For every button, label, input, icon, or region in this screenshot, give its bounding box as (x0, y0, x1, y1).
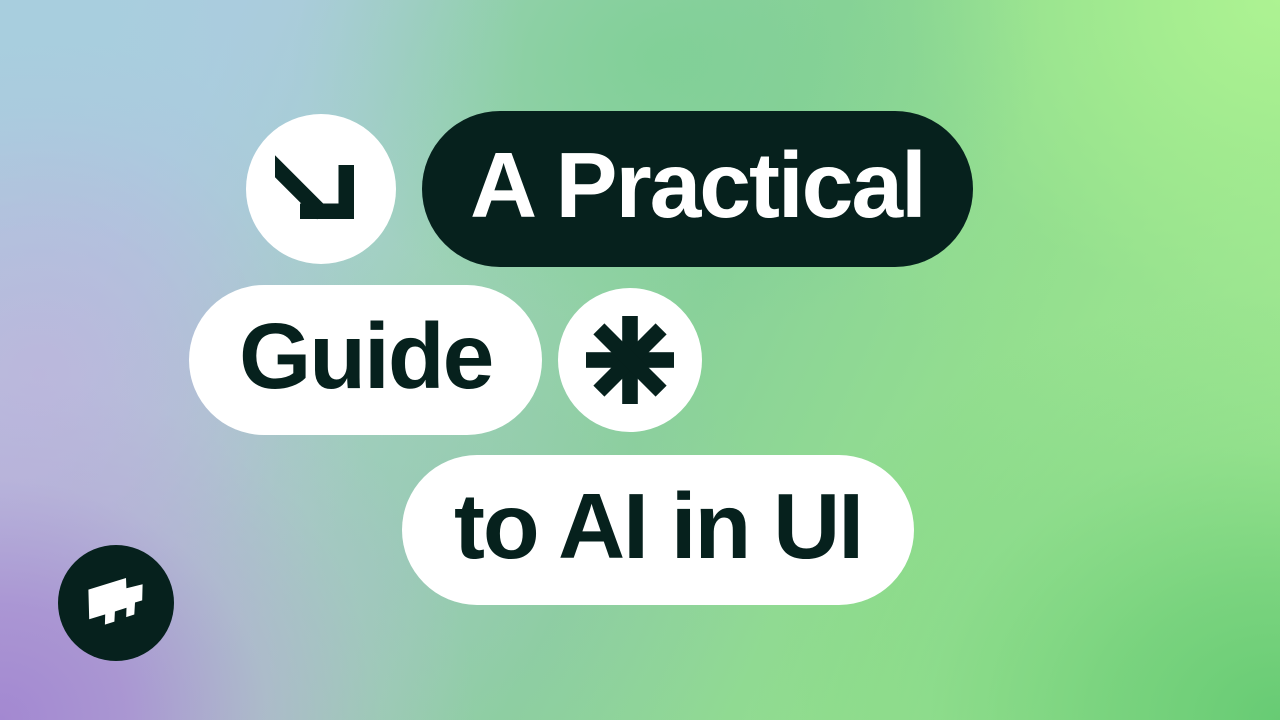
logo-badge[interactable] (58, 545, 174, 661)
headline-row-1: A Practical (246, 111, 973, 267)
headline-pill-to-ai-in-ui: to AI in UI (402, 455, 914, 605)
headline-pill-guide: Guide (189, 285, 542, 435)
asterisk-icon (558, 288, 702, 432)
headline-row-2: Guide (189, 285, 702, 435)
headline-row-3: to AI in UI (402, 455, 914, 605)
hero-headline-group: A Practical Guide to AI in UI (0, 0, 1280, 720)
logo-mark-icon (85, 576, 147, 630)
headline-pill-a-practical: A Practical (422, 111, 973, 267)
arrow-down-right-icon (246, 114, 396, 264)
